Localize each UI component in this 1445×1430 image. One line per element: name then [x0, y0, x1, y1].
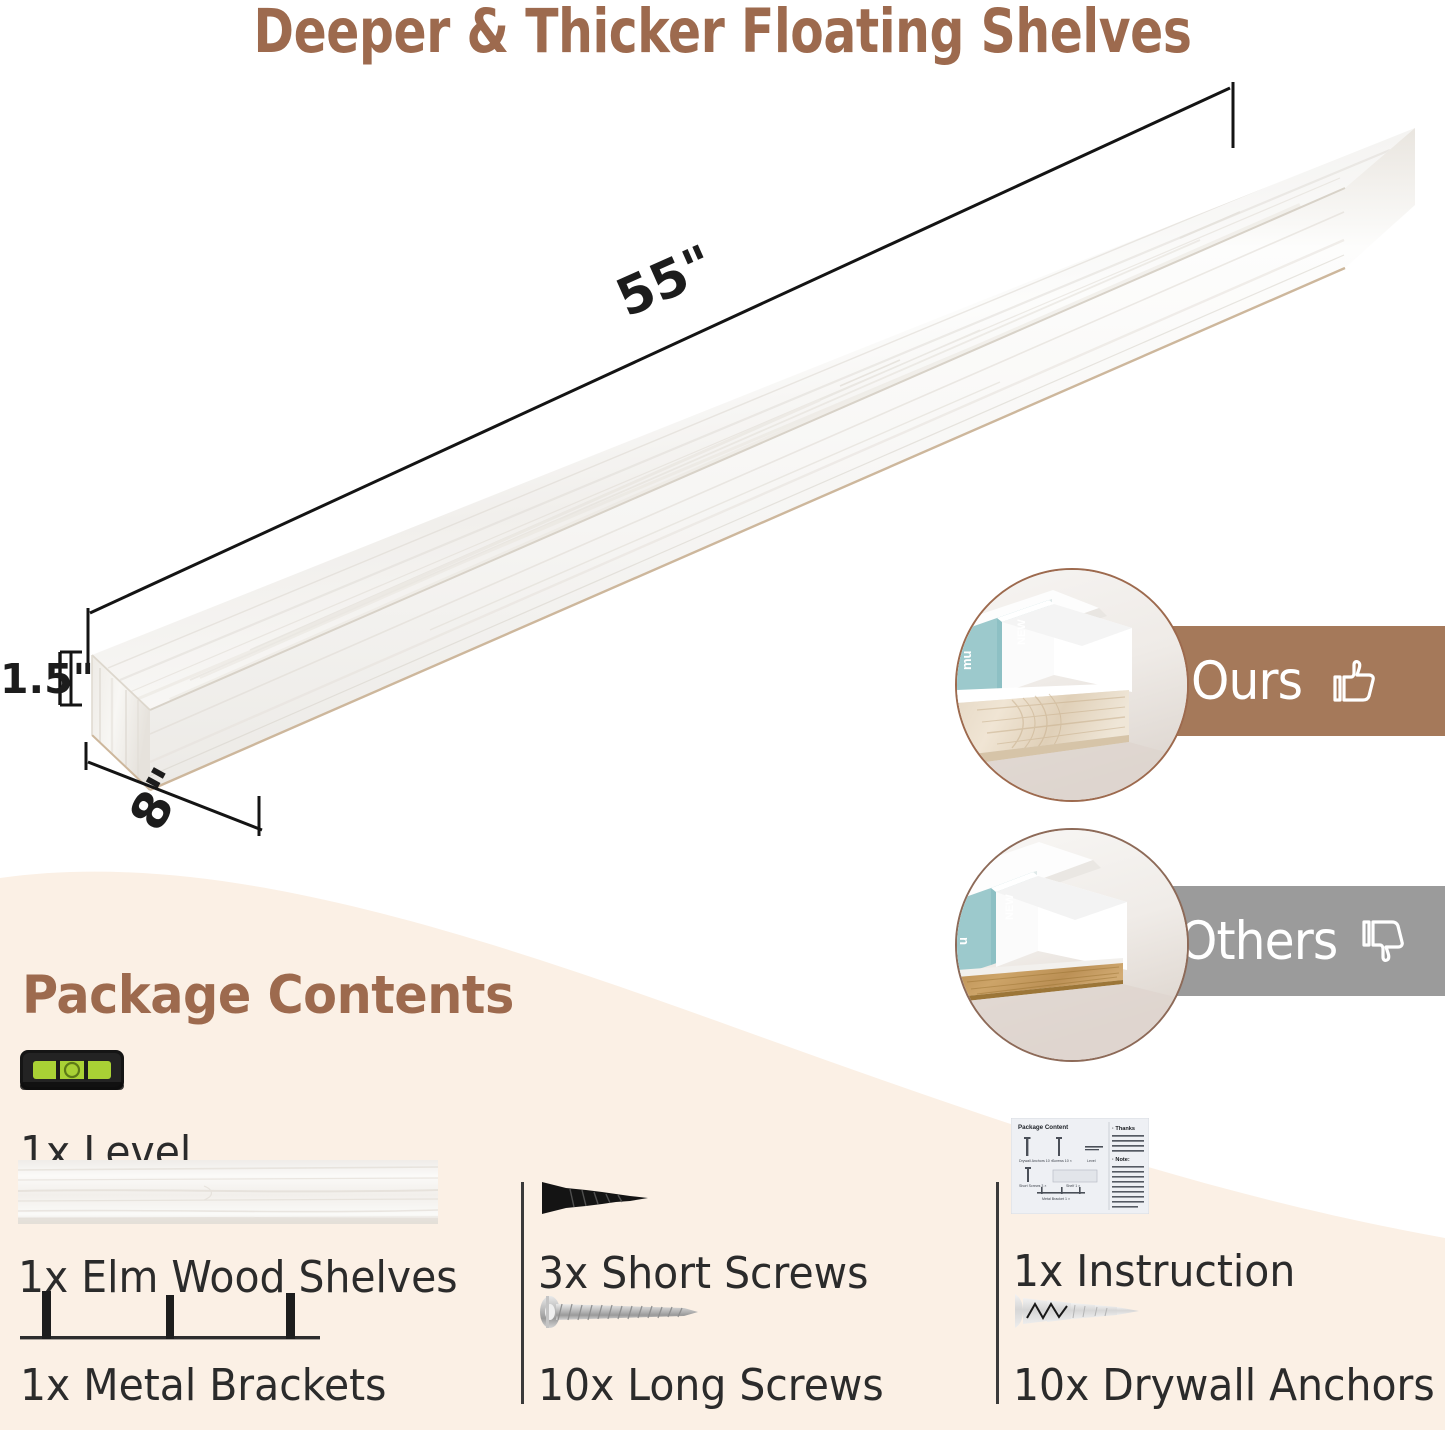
ours-box-mu-text: mu	[959, 650, 974, 670]
package-item-label-long-screws: 10x Long Screws	[538, 1360, 884, 1411]
ours-photo-circle: NEW mu	[955, 568, 1189, 802]
instruction-heading-text: Package Content	[1018, 1124, 1068, 1131]
svg-text:Shelf 1 ×: Shelf 1 ×	[1066, 1184, 1080, 1188]
column-divider-1	[521, 1182, 524, 1404]
others-photo: NEW u	[957, 830, 1187, 1060]
svg-text:Metal Bracket 1 ×: Metal Bracket 1 ×	[1042, 1197, 1070, 1201]
ours-box-new-text: NEW	[1016, 619, 1028, 645]
svg-text:Level: Level	[1087, 1159, 1096, 1163]
infographic-canvas: Deeper & Thicker Floating Shelves	[0, 0, 1445, 1430]
instruction-note-heading: · Note:	[1112, 1157, 1130, 1163]
instruction-thanks-heading: · Thanks	[1112, 1126, 1135, 1132]
others-box-new-text: NEW	[1004, 894, 1016, 920]
comparison-ours: Ours	[955, 568, 1445, 798]
long-screw-icon	[538, 1290, 738, 1334]
metal-bracket-icon	[20, 1288, 320, 1346]
short-screw-icon	[540, 1178, 670, 1218]
others-box-u-text: u	[957, 937, 970, 945]
ours-photo: NEW mu	[957, 570, 1187, 800]
svg-text:Drywall Anchors 10 ×: Drywall Anchors 10 ×	[1019, 1159, 1053, 1163]
bubble-level-icon	[20, 1048, 124, 1092]
others-label: Others	[1179, 911, 1337, 972]
package-item-label-brackets: 1x Metal Brackets	[20, 1360, 386, 1411]
dimension-label-thickness: 1.5"	[0, 655, 94, 703]
column-divider-2	[996, 1182, 999, 1404]
drywall-anchor-icon	[1013, 1290, 1143, 1332]
others-photo-circle: NEW u	[955, 828, 1189, 1062]
thumbs-up-icon	[1326, 655, 1378, 707]
instruction-sheet-icon: Package Content Drywall Anchors 10 × Scr…	[1011, 1118, 1149, 1214]
svg-text:Short Screws 3 ×: Short Screws 3 ×	[1019, 1184, 1046, 1188]
ours-label: Ours	[1191, 651, 1302, 712]
thumbs-down-icon	[1355, 915, 1407, 967]
wood-plank-icon	[18, 1160, 438, 1224]
package-contents-heading: Package Contents	[22, 965, 514, 1026]
comparison-others: Others	[955, 828, 1445, 1058]
svg-text:Screws 10 ×: Screws 10 ×	[1052, 1159, 1072, 1163]
package-item-label-anchors: 10x Drywall Anchors	[1013, 1360, 1435, 1411]
